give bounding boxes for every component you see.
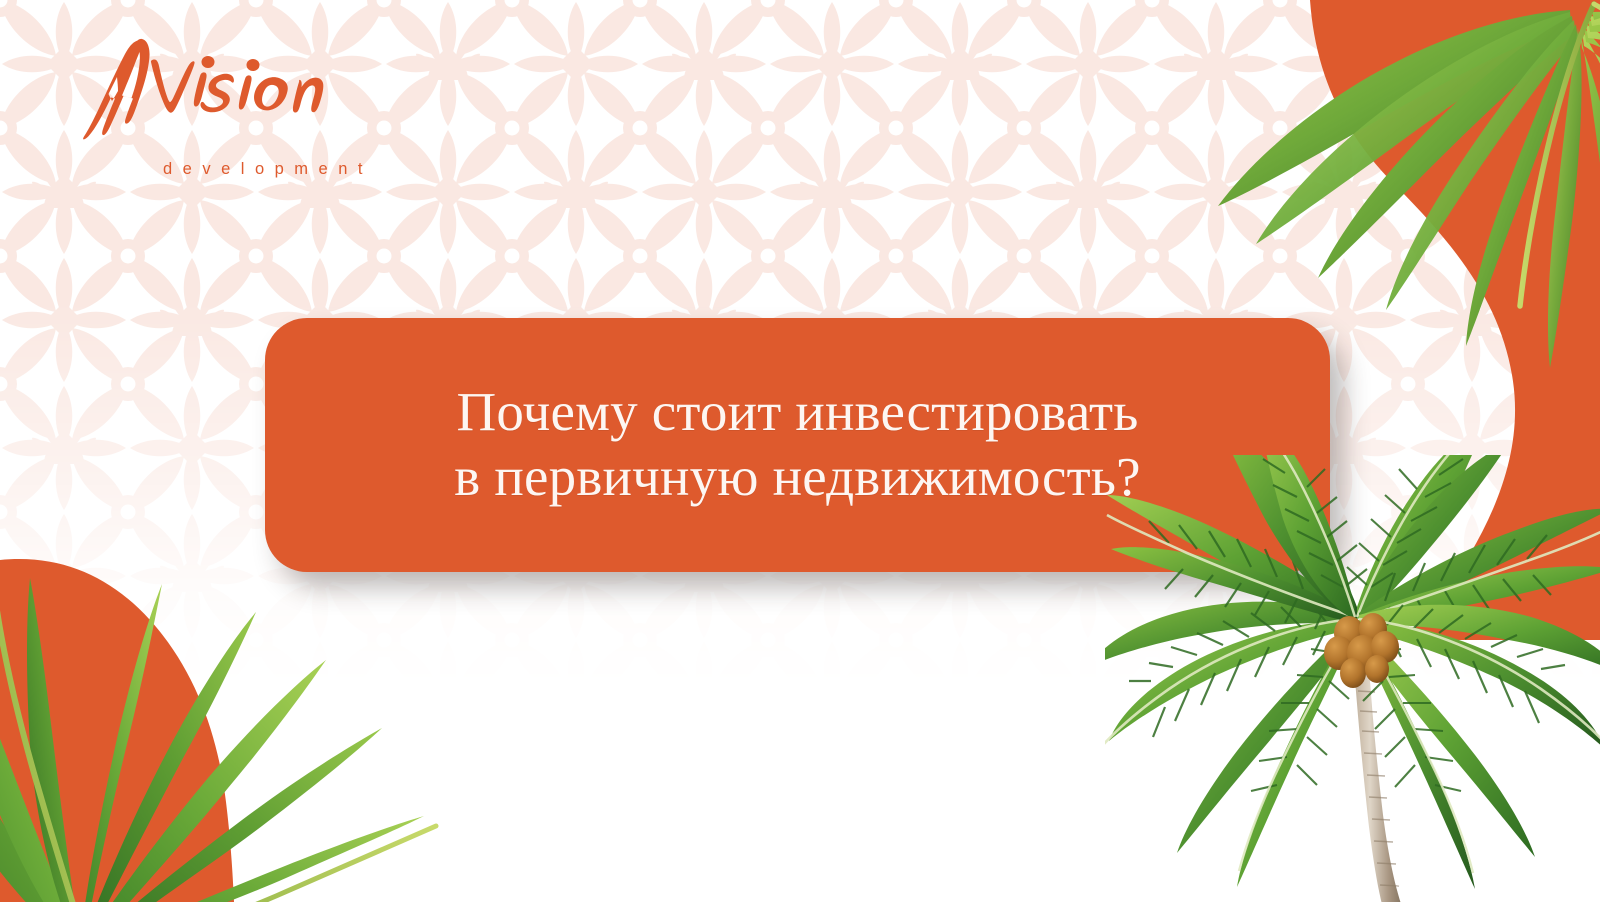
logo-tagline: development xyxy=(163,160,373,179)
decor-blob-bottom-left xyxy=(0,540,360,902)
brand-logo[interactable]: development xyxy=(55,32,365,172)
headline-card: Почему стоит инвестировать в первичную н… xyxy=(265,318,1330,572)
logo-wordmark-mark xyxy=(55,32,365,144)
headline-title: Почему стоит инвестировать в первичную н… xyxy=(424,380,1170,510)
slide-canvas: Почему стоит инвестировать в первичную н… xyxy=(0,0,1600,902)
